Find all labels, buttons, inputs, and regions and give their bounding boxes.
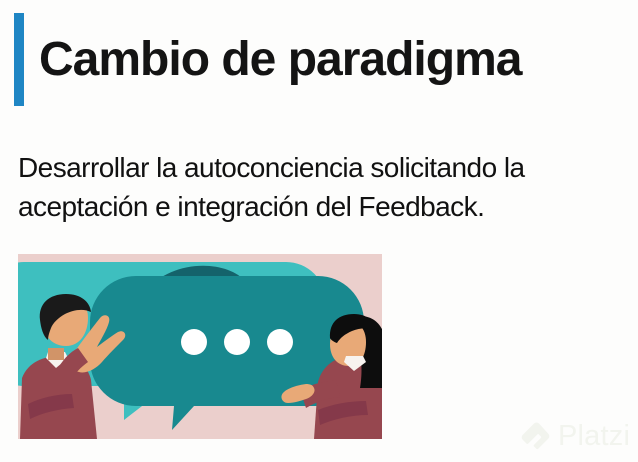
- title-block: Cambio de paradigma: [0, 12, 638, 108]
- dark-bubble-dots: [181, 329, 293, 355]
- title-accent-bar: [14, 13, 24, 106]
- platzi-brand-text: Platzi: [558, 421, 630, 452]
- platzi-logo-icon: [520, 421, 551, 452]
- body-paragraph: Desarrollar la autoconciencia solicitand…: [18, 148, 628, 226]
- platzi-watermark: Platzi: [520, 416, 632, 456]
- feedback-conversation-illustration: [18, 254, 382, 439]
- illustration-artwork: [18, 254, 382, 439]
- page-title: Cambio de paradigma: [39, 12, 599, 108]
- slide-canvas: Cambio de paradigma Desarrollar la autoc…: [0, 0, 638, 462]
